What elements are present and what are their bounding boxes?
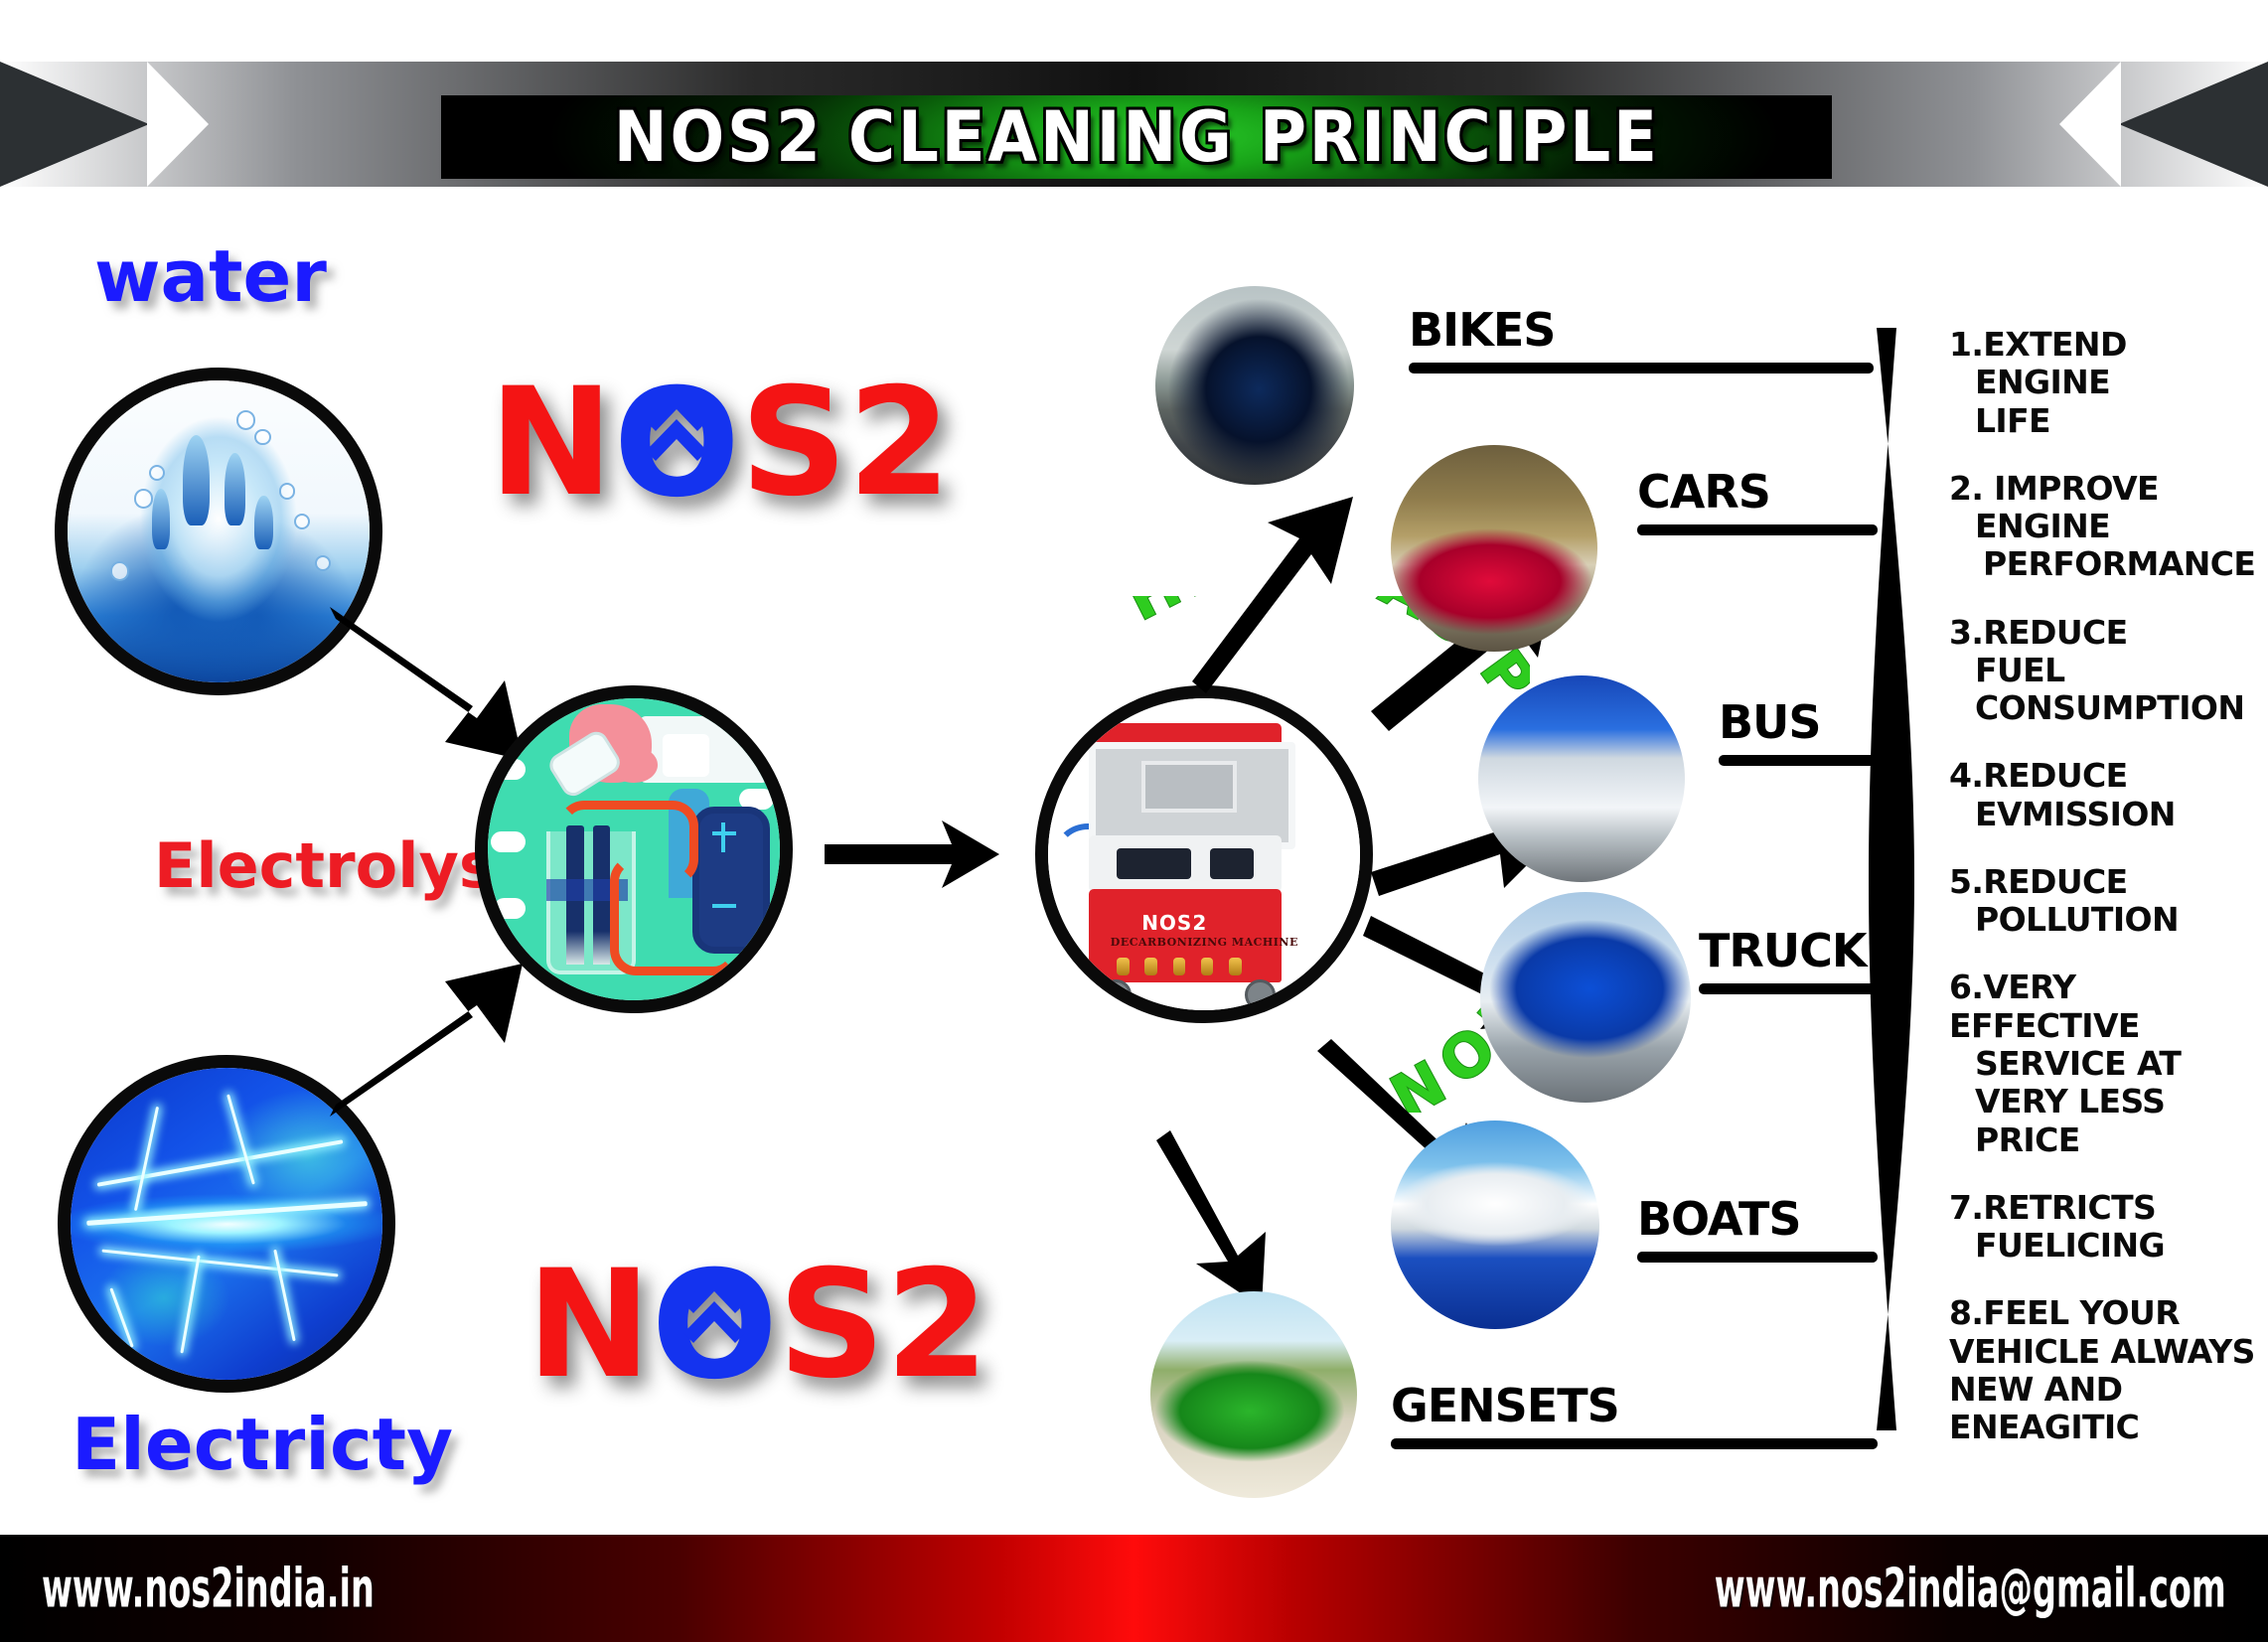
electricity-label: Electricty [72,1403,453,1486]
benefit-line: CONSUMPTION [1949,689,2267,727]
category-rule-bikes [1409,363,1874,373]
red-sports-car-photo [1391,445,1597,652]
chevron-up-icon [680,1268,749,1345]
benefit-line: VERY LESS PRICE [1949,1083,2267,1159]
benefit-line: NEW AND [1949,1371,2267,1409]
decarbonizing-machine-illustration: NOS2 DECARBONIZING MACHINE [1048,698,1360,1010]
benefit-item: 7.RETRICTS FUELICING [1949,1189,2267,1266]
benefit-line: 7.RETRICTS [1949,1189,2267,1227]
lightning-bolt-icon [134,1107,159,1211]
category-rule-boats [1637,1252,1878,1263]
coach-bus-photo [1478,675,1685,882]
category-rule-trucks [1699,983,1878,994]
decor-card [663,734,709,777]
gensets-circle [1150,1291,1357,1498]
nos2-letter-2: 2 [847,379,951,508]
white-yacht-photo [1391,1120,1599,1329]
water-droplet-icon [294,514,310,529]
water-label: water [94,234,327,318]
decor-dash [491,831,526,852]
splash-jet-icon [225,453,245,525]
machine-wheel-icon [1101,979,1132,1010]
lightning-bolt-icon [102,1249,339,1276]
benefit-item: 2. IMPROVE ENGINE PERFORMANCE [1949,470,2267,584]
benefit-line: 2. IMPROVE [1949,470,2267,508]
header-left-arrow-icon [0,62,149,187]
lightning-bolt-icon [227,1095,255,1185]
nos2-logo-top: N O S 2 [489,358,951,529]
benefit-item: 1.EXTEND ENGINE LIFE [1949,326,2267,440]
footer-bar: www.nos2india.in www.nos2india@gmail.com [0,1535,2268,1642]
bus-circle [1478,675,1685,882]
splash-jet-icon [152,489,170,549]
blue-truck-photo [1480,892,1691,1103]
lightning-photo [71,1068,382,1380]
wire-icon [610,855,739,975]
benefit-line: POLLUTION [1949,901,2267,939]
nos2-letter-o-group: O [614,358,741,529]
nos2-letter-n: N [527,1262,652,1390]
benefit-line: 5.REDUCE [1949,863,2267,901]
category-rule-cars [1637,524,1878,535]
benefit-line: FUEL [1949,652,2267,689]
benefit-line: SERVICE AT [1949,1045,2267,1083]
machine-knob-icon [1117,958,1130,976]
header-right-arrow-notch-icon [2059,62,2121,187]
bikes-circle [1155,286,1354,485]
nos2-logo-bottom: N O S 2 [527,1240,988,1412]
motorcycle-photo [1155,286,1354,485]
water-droplet-icon [279,483,295,499]
machine-circle: NOS2 DECARBONIZING MACHINE [1035,685,1373,1023]
boats-circle [1391,1120,1599,1329]
category-rule-gensets [1391,1438,1878,1449]
machine-knob-icon [1229,958,1242,976]
nos2-letter-s: S [778,1262,885,1390]
benefit-item: 6.VERY EFFECTIVE SERVICE AT VERY LESS PR… [1949,969,2267,1158]
infographic-page: NOS2 CLEANING PRINCIPLE water [0,0,2268,1642]
water-droplet-icon [236,410,255,429]
title-banner: NOS2 CLEANING PRINCIPLE [441,95,1832,179]
machine-knob-icon [1173,958,1186,976]
arrow-machine-to-gensets [1162,1122,1301,1311]
arrow-machine-to-bikes [1182,497,1361,685]
machine-knob-icon [1144,958,1157,976]
machine-screen [1141,761,1237,813]
battery-plus-icon [721,822,725,852]
nos2-letter-2: 2 [885,1262,988,1390]
machine-keypad [1117,848,1191,879]
benefits-list: 1.EXTEND ENGINE LIFE 2. IMPROVE ENGINE P… [1949,326,2267,1476]
decor-dash [494,759,526,780]
chevron-up-icon [642,385,711,463]
benefit-item: 3.REDUCE FUEL CONSUMPTION [1949,614,2267,728]
water-droplet-icon [149,465,165,481]
trucks-circle [1480,892,1691,1103]
category-label-gensets: GENSETS [1391,1379,1619,1432]
page-title: NOS2 CLEANING PRINCIPLE [613,102,1659,172]
water-splash-photo [68,380,370,682]
machine-display [1210,848,1254,879]
header-right-arrow-icon [2119,62,2268,187]
machine-wheel-icon [1245,979,1276,1010]
benefit-line: 3.REDUCE [1949,614,2267,652]
lightning-bolt-icon [181,1256,201,1354]
water-droplet-icon [254,429,270,445]
h2o-illustration [488,698,780,1000]
lightning-bolt-icon [86,1202,367,1227]
grouping-brace [1863,328,1920,1430]
footer-website[interactable]: www.nos2india.in [42,1558,375,1620]
benefit-item: 5.REDUCE POLLUTION [1949,863,2267,940]
cars-circle [1391,445,1597,652]
machine-knob-icon [1201,958,1214,976]
benefit-line: VEHICLE ALWAYS [1949,1333,2267,1371]
benefit-line: EVMISSION [1949,796,2267,833]
benefit-line: ENGINE [1949,364,2267,401]
benefit-item: 4.REDUCE EVMISSION [1949,757,2267,833]
category-label-bus: BUS [1719,695,1821,749]
benefit-item: 8.FEEL YOUR VEHICLE ALWAYS NEW AND ENEAG… [1949,1294,2267,1446]
splash-jet-icon [183,435,210,525]
category-rule-bus [1719,755,1878,766]
decor-dash [494,898,526,919]
nos2-letter-n: N [489,379,614,508]
nos2-letter-s: S [740,379,847,508]
machine-logo: NOS2 [1141,911,1207,935]
water-droplet-icon [315,555,331,571]
benefit-line: FUELICING [1949,1227,2267,1265]
green-generator-photo [1150,1291,1357,1498]
category-label-bikes: BIKES [1409,303,1555,357]
header-left-arrow-notch-icon [147,62,209,187]
footer-email[interactable]: www.nos2india@gmail.com [1715,1558,2226,1620]
lightning-bolt-icon [110,1287,134,1347]
benefit-line: LIFE [1949,402,2267,440]
lightning-bolt-icon [97,1139,344,1187]
benefit-line: 1.EXTEND [1949,326,2267,364]
benefit-line: PERFORMANCE [1949,545,2267,583]
benefit-line: 4.REDUCE [1949,757,2267,795]
nos2-letter-o-group: O [652,1240,779,1412]
benefit-line: 6.VERY EFFECTIVE [1949,969,2267,1045]
category-label-boats: BOATS [1637,1192,1800,1246]
electrolysis-circle [475,685,793,1013]
category-label-cars: CARS [1637,465,1770,519]
benefit-line: ENEAGITIC [1949,1409,2267,1446]
benefit-line: ENGINE [1949,508,2267,545]
water-droplet-icon [134,489,153,508]
lightning-bolt-icon [273,1250,296,1342]
benefit-line: 8.FEEL YOUR [1949,1294,2267,1332]
machine-caption: DECARBONIZING MACHINE [1111,936,1298,949]
arrow-electrolysis-to-machine [825,815,1023,894]
splash-jet-icon [254,496,272,550]
water-droplet-icon [110,561,129,580]
